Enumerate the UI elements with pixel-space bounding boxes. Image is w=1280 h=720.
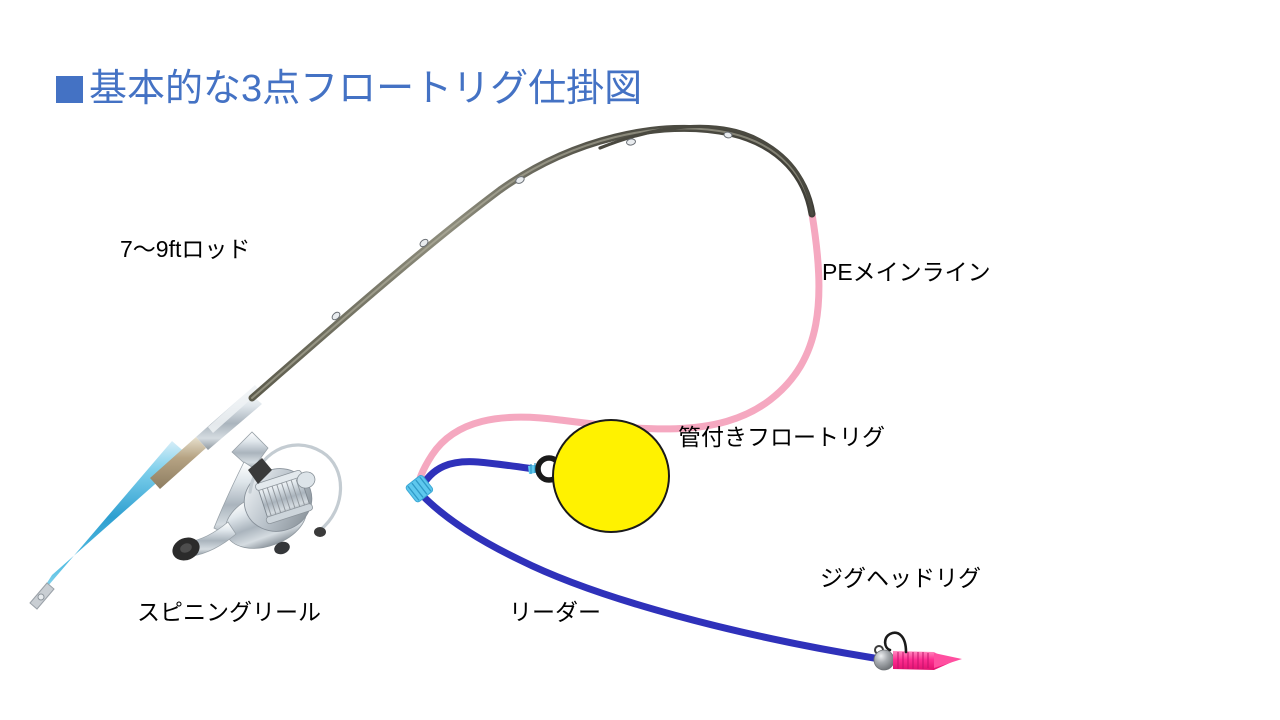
label-main-line: PEメインライン — [822, 258, 991, 286]
tube-float — [553, 420, 669, 532]
label-rod: 7〜9ftロッド — [120, 235, 250, 263]
jig-head-rig — [874, 633, 962, 670]
slide-canvas: 基本的な3点フロートリグ仕掛図 — [0, 0, 1280, 720]
label-float-rig: 管付きフロートリグ — [678, 423, 885, 451]
leader-to-float — [420, 462, 534, 490]
rod-grip — [30, 437, 206, 609]
label-leader: リーダー — [509, 598, 601, 626]
rod-guides — [331, 131, 733, 321]
label-jig-head: ジグヘッドリグ — [820, 564, 981, 592]
label-reel: スピニングリール — [137, 598, 321, 626]
